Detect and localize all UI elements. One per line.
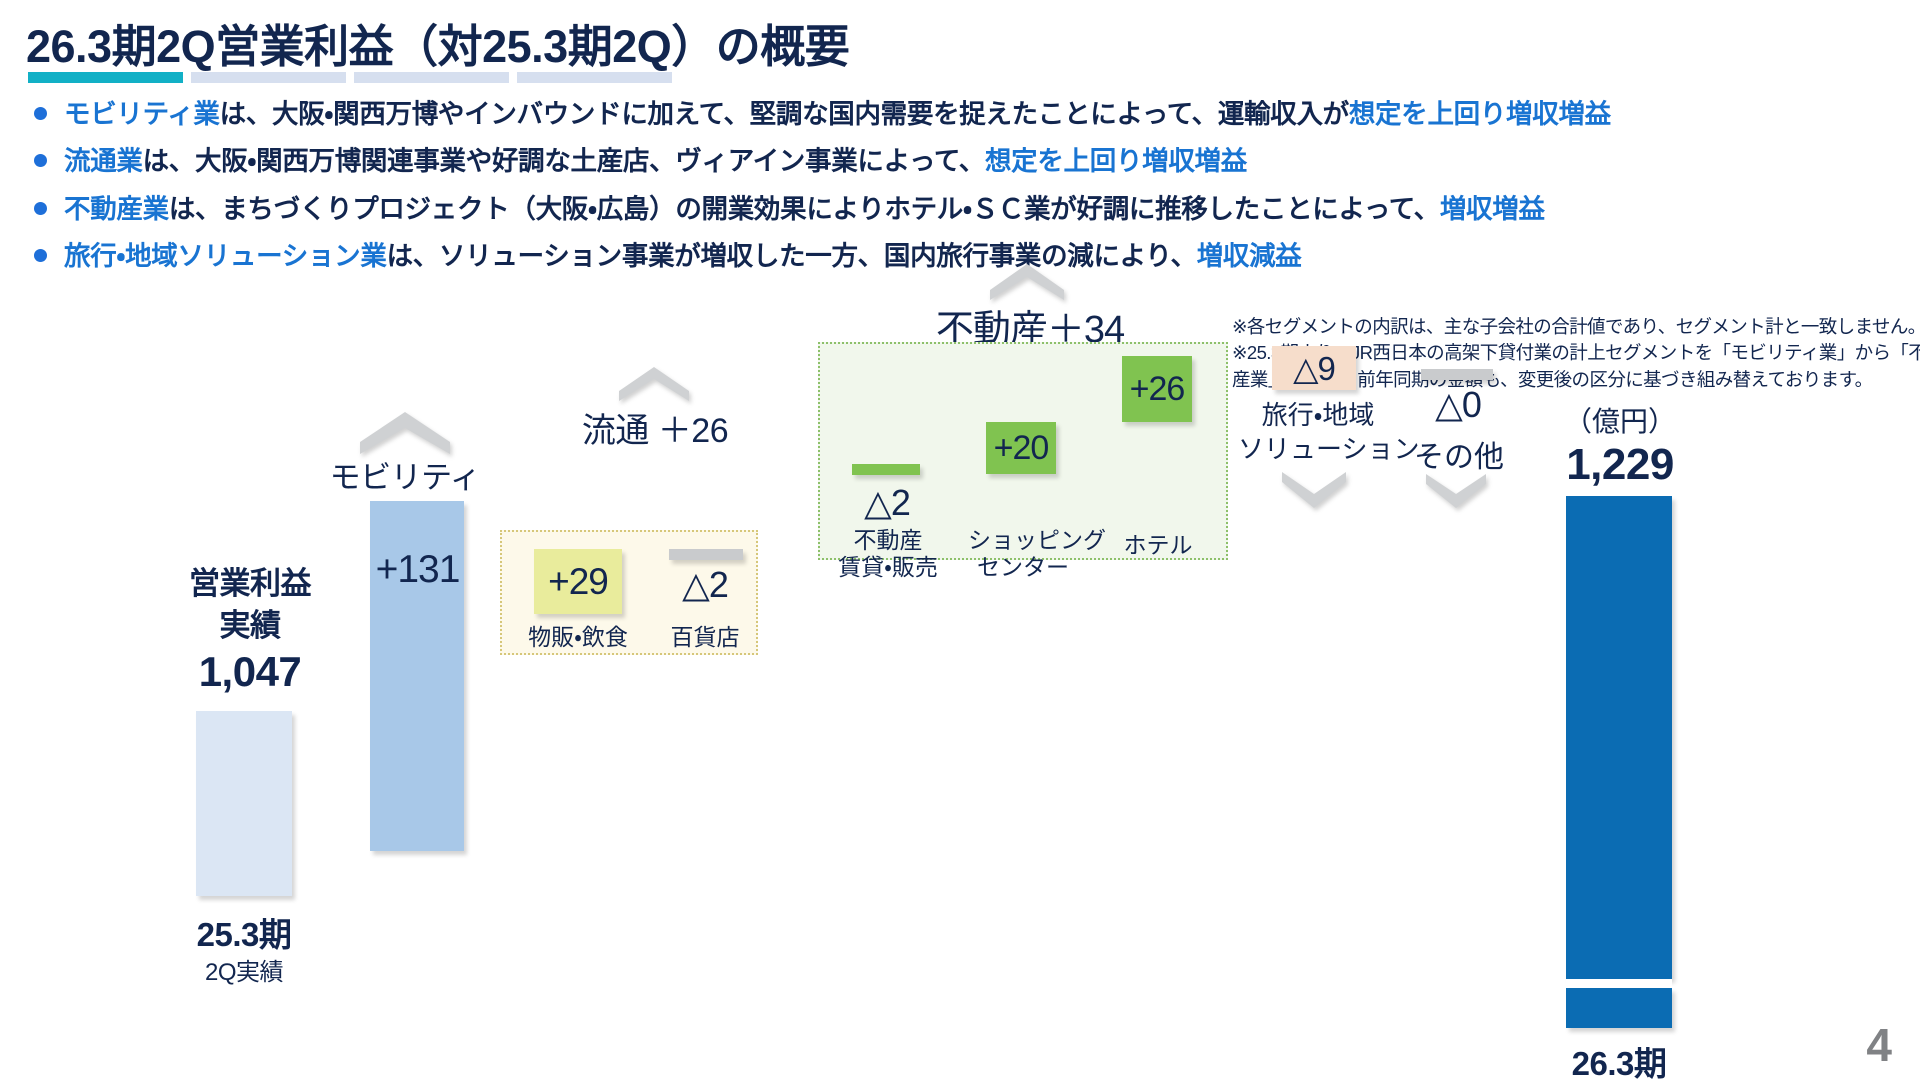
bullet-highlight: 旅行・地域ソリューション業 (64, 241, 387, 271)
bullet-dot-icon (34, 202, 47, 215)
unit-label: （億円） (1500, 400, 1740, 440)
footnote-line: ※各セグメントの内訳は、主な子会社の合計値であり、セグメント計と一致しません。 (1232, 314, 1920, 340)
segment-label-distribution: 流通 ＋26 (530, 403, 780, 452)
rule-segment-2 (191, 72, 346, 83)
axis-label-start-bold: 25.3期 (144, 908, 344, 956)
start-value: 1,047 (150, 648, 350, 696)
start-label-line1: 営業利益 (150, 563, 350, 605)
bullet-highlight-tail: 増収減益 (1197, 241, 1302, 271)
detail-label-buppan: 物販・飲食 (512, 618, 644, 652)
bullet-highlight-tail: 想定を上回り増収増益 (985, 146, 1247, 176)
bullet-highlight: 流通業 (64, 146, 143, 176)
bar-end-26_3-foot (1566, 988, 1672, 1028)
chip-buppan: +29 (534, 549, 622, 614)
bullet-text-distribution: 流通業は、大阪・関西万博関連事業や好調な土産店、ヴィアイン事業によって、想定を上… (64, 142, 1247, 180)
waterfall-chart: ※各セグメントの内訳は、主な子会社の合計値であり、セグメント計と一致しません。 … (0, 300, 1920, 1080)
detail-value-buppan: +29 (548, 561, 608, 603)
bullet-highlight: 不動産業 (64, 194, 169, 224)
chip-travel: △9 (1272, 346, 1356, 390)
bar-end-gap (1566, 979, 1672, 988)
chip-hotel: +26 (1122, 356, 1192, 422)
axis-label-end-bold: 26.3期 (1519, 1037, 1719, 1080)
axis-label-start-sub: 2Q実績 (144, 952, 344, 987)
page-number: 4 (1866, 1018, 1892, 1072)
detail-value-realestate-lease: △2 (842, 482, 932, 524)
segment-label-travel-2: ソリューション (1238, 432, 1400, 467)
bullet-highlight: モビリティ業 (64, 99, 220, 129)
rule-segment-3 (354, 72, 509, 83)
title-rule (28, 72, 672, 83)
chip-shopping-center: +20 (986, 422, 1056, 474)
flatbar-department-store (669, 549, 743, 560)
detail-label-hotel: ホテル (1108, 526, 1208, 560)
detail-value-shopping-center: +20 (994, 429, 1049, 468)
bullet-highlight-tail: 増収増益 (1440, 194, 1545, 224)
detail-value-department-store: △2 (652, 564, 758, 606)
segment-label-mobility: モビリティ (305, 452, 505, 497)
list-item: 流通業は、大阪・関西万博関連事業や好調な土産店、ヴィアイン事業によって、想定を上… (34, 142, 1894, 180)
detail-value-hotel: +26 (1130, 370, 1185, 409)
bar-end-26_3 (1566, 496, 1672, 979)
detail-label-realestate-lease-1: 不動産 (830, 526, 946, 555)
segment-value-other: △0 (1405, 384, 1511, 426)
rule-segment-4 (517, 72, 672, 83)
bullet-dot-icon (34, 249, 47, 262)
list-item: モビリティ業は、大阪・関西万博やインバウンドに加えて、堅調な国内需要を捉えたこと… (34, 95, 1894, 133)
slide-root: 26.3期2Q営業利益（対25.3期2Q）の概要 モビリティ業は、大阪・関西万博… (0, 0, 1920, 1080)
bullet-text-travel: 旅行・地域ソリューション業は、ソリューション事業が増収した一方、国内旅行事業の減… (64, 237, 1302, 275)
bullet-dot-icon (34, 107, 47, 120)
list-item: 旅行・地域ソリューション業は、ソリューション事業が増収した一方、国内旅行事業の減… (34, 237, 1894, 275)
page-title: 26.3期2Q営業利益（対25.3期2Q）の概要 (26, 10, 849, 75)
detail-box-realestate: △2 不動産 賃貸・販売 +20 ショッピング センター +26 ホテル (818, 342, 1228, 560)
detail-label-realestate-lease-2: 賃貸・販売 (830, 553, 946, 582)
bar-start-25_3 (196, 711, 292, 896)
bullet-text-mobility: モビリティ業は、大阪・関西万博やインバウンドに加えて、堅調な国内需要を捉えたこと… (64, 95, 1611, 133)
bullet-list: モビリティ業は、大阪・関西万博やインバウンドに加えて、堅調な国内需要を捉えたこと… (34, 95, 1894, 285)
end-value: 1,229 (1500, 440, 1740, 490)
bullet-body: は、ソリューション事業が増収した一方、国内旅行事業の減により、 (387, 241, 1197, 271)
bullet-highlight-tail: 想定を上回り増収増益 (1349, 99, 1611, 129)
bullet-dot-icon (34, 154, 47, 167)
flatbar-realestate-lease (852, 464, 920, 475)
bullet-body: は、大阪・関西万博やインバウンドに加えて、堅調な国内需要を捉えたことによって、運… (220, 99, 1349, 129)
list-item: 不動産業は、まちづくりプロジェクト（大阪・広島）の開業効果によりホテル・ＳＣ業が… (34, 190, 1894, 228)
bullet-body: は、まちづくりプロジェクト（大阪・広島）の開業効果によりホテル・ＳＣ業が好調に推… (169, 194, 1440, 224)
detail-label-department-store: 百貨店 (652, 618, 758, 652)
segment-value-travel: △9 (1293, 349, 1335, 388)
segment-label-travel-1: 旅行・地域 (1248, 398, 1388, 433)
segment-value-mobility: +131 (330, 548, 505, 592)
bullet-text-realestate: 不動産業は、まちづくりプロジェクト（大阪・広島）の開業効果によりホテル・ＳＣ業が… (64, 190, 1545, 228)
start-label-line2: 実績 (150, 605, 350, 647)
rule-segment-accent (28, 72, 183, 83)
bullet-body: は、大阪・関西万博関連事業や好調な土産店、ヴィアイン事業によって、 (143, 146, 985, 176)
detail-label-shopping-center-2: センター (968, 553, 1078, 582)
detail-label-shopping-center-1: ショッピング (968, 526, 1078, 555)
detail-box-distribution: +29 物販・飲食 △2 百貨店 (500, 530, 758, 655)
flatbar-other (1421, 369, 1493, 380)
